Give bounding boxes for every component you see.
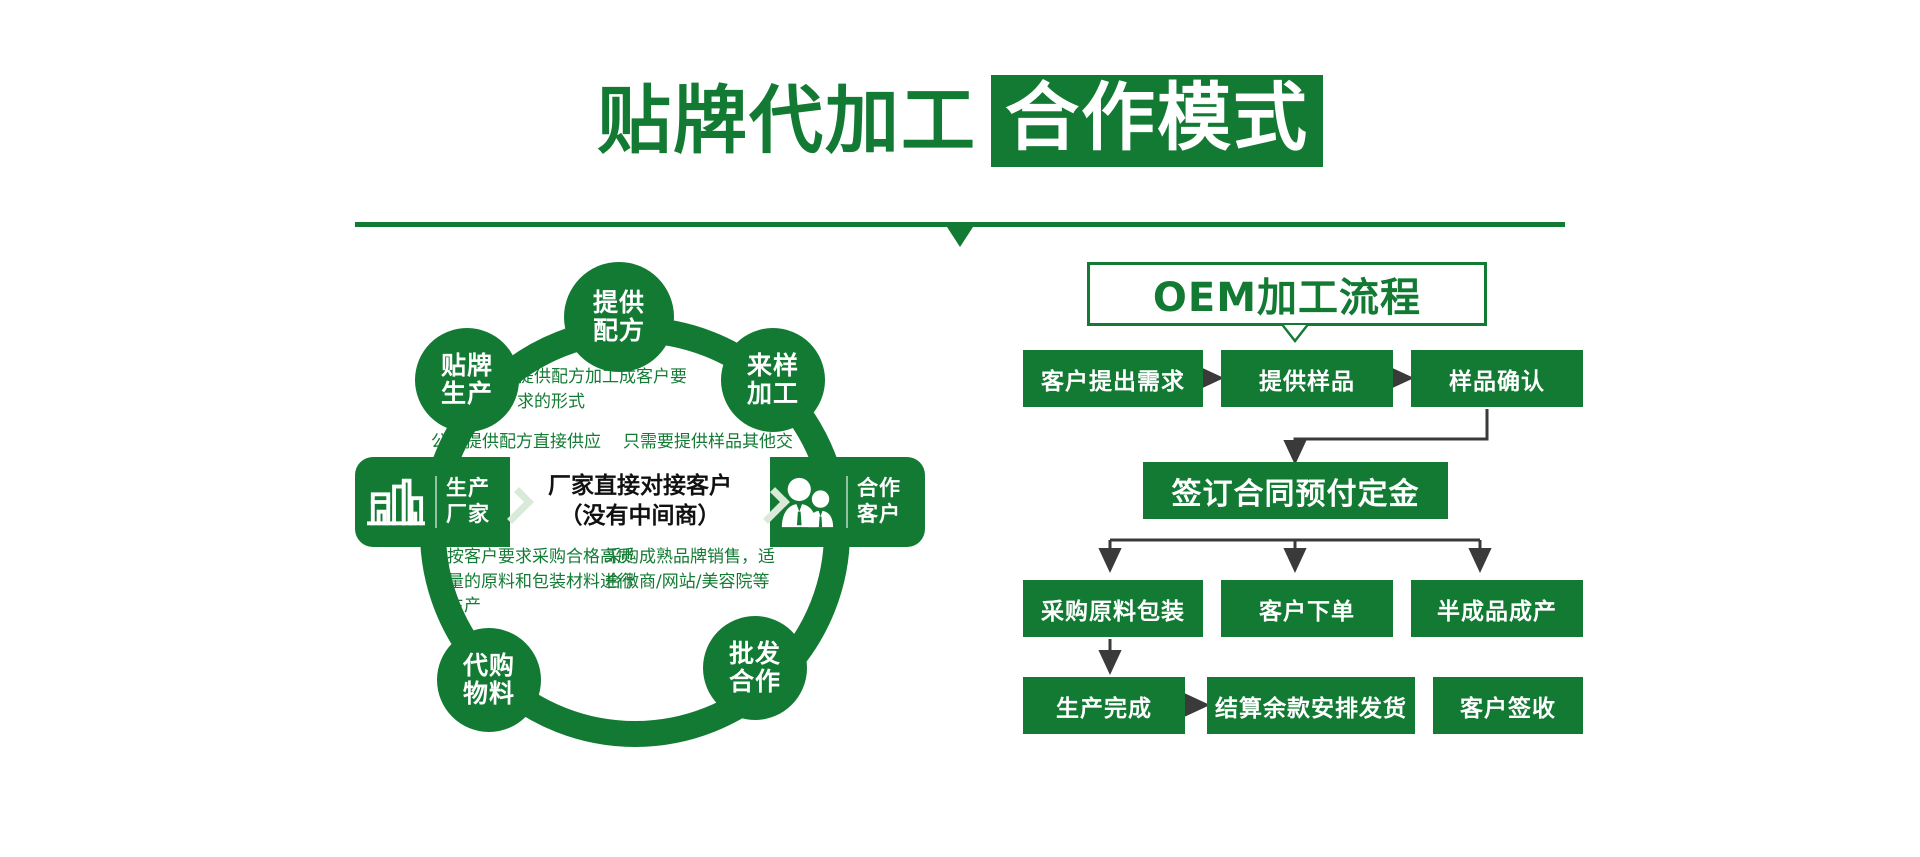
band-center-message: 厂家直接对接客户 （没有中间商）	[510, 457, 770, 547]
caption-wholesale-cooperation: 采购成熟品牌销售，适合微商/网站/美容院等	[605, 545, 780, 594]
flow-box-label: 提供样品	[1259, 362, 1355, 396]
cycle-node-label-line2: 合作	[729, 668, 781, 696]
flow-box-sample-confirm[interactable]: 样品确认	[1411, 350, 1583, 407]
band-center-line2: （没有中间商）	[560, 502, 721, 532]
section-divider	[355, 222, 1565, 248]
title-plain-text: 贴牌代加工	[597, 84, 977, 158]
factory-icon	[365, 473, 427, 531]
flow-box-label: 样品确认	[1449, 362, 1545, 396]
flow-box-customer-receipt[interactable]: 客户签收	[1433, 677, 1583, 734]
cycle-node-wholesale-cooperation[interactable]: 批发 合作	[703, 616, 807, 720]
flow-box-label: 半成品成产	[1437, 592, 1557, 626]
flowchart-heading-text: OEM加工流程	[1153, 265, 1421, 323]
page-title: 贴牌代加工 合作模式	[0, 75, 1920, 167]
cycle-node-label-line1: 批发	[729, 640, 781, 668]
title-highlight-badge: 合作模式	[991, 75, 1323, 167]
caption-supply-formula: 提供配方加工成客户要求的形式	[517, 365, 692, 414]
flow-box-label: 客户下单	[1259, 592, 1355, 626]
cycle-node-oem-production[interactable]: 贴牌 生产	[415, 328, 519, 432]
flow-box-purchase-materials[interactable]: 采购原料包装	[1023, 580, 1203, 637]
caret-down-icon	[947, 227, 973, 247]
flow-box-label: 生产完成	[1056, 689, 1152, 723]
infographic-root: 贴牌代加工 合作模式 提供 配方 贴牌 生产 来样 加工 代购 物料 批发 合作…	[0, 0, 1920, 857]
cycle-node-sample-processing[interactable]: 来样 加工	[721, 328, 825, 432]
caret-down-icon-inner	[1284, 325, 1306, 339]
cycle-node-label-line2: 生产	[441, 380, 493, 408]
band-label-line2: 厂家	[446, 502, 490, 526]
flow-box-production-complete[interactable]: 生产完成	[1023, 677, 1185, 734]
flow-box-customer-order[interactable]: 客户下单	[1221, 580, 1393, 637]
cycle-node-label-line1: 贴牌	[441, 352, 493, 380]
band-manufacturer-label: 生产 厂家	[435, 476, 490, 527]
cycle-node-label-line2: 配方	[593, 317, 645, 345]
band-center-line1: 厂家直接对接客户	[548, 472, 732, 502]
band-label-line1: 生产	[446, 476, 490, 500]
oem-process-flowchart: OEM加工流程	[1015, 262, 1575, 802]
flow-box-label: 结算余款安排发货	[1215, 689, 1407, 723]
cycle-node-material-purchasing[interactable]: 代购 物料	[437, 628, 541, 732]
flow-box-customer-requirement[interactable]: 客户提出需求	[1023, 350, 1203, 407]
band-label-line2: 客户	[857, 502, 901, 526]
band-manufacturer-group[interactable]: 生产 厂家	[355, 457, 510, 547]
flow-box-label: 客户提出需求	[1041, 362, 1185, 396]
band-customer-label: 合作 客户	[846, 476, 901, 527]
flow-box-semi-finished[interactable]: 半成品成产	[1411, 580, 1583, 637]
cycle-node-label-line2: 物料	[463, 680, 515, 708]
cycle-node-label-line1: 来样	[747, 352, 799, 380]
cycle-node-label-line1: 代购	[463, 652, 515, 680]
cycle-node-label-line2: 加工	[747, 380, 799, 408]
band-label-line1: 合作	[857, 476, 901, 500]
flowchart-heading: OEM加工流程	[1087, 262, 1487, 326]
flow-box-provide-sample[interactable]: 提供样品	[1221, 350, 1393, 407]
direct-connection-band: 生产 厂家 厂家直接对接客户 （没有中间商）	[355, 457, 925, 547]
flow-box-label: 客户签收	[1460, 689, 1556, 723]
flow-box-settle-and-ship[interactable]: 结算余款安排发货	[1207, 677, 1415, 734]
cooperation-cycle-diagram: 提供 配方 贴牌 生产 来样 加工 代购 物料 批发 合作 提供配方加工成客户要…	[355, 262, 925, 792]
flow-box-sign-contract-deposit[interactable]: 签订合同预付定金	[1143, 462, 1448, 519]
cycle-node-label-line1: 提供	[593, 289, 645, 317]
flow-box-label: 采购原料包装	[1041, 592, 1185, 626]
band-customer-group[interactable]: 合作 客户	[770, 457, 925, 547]
cycle-node-supply-formula[interactable]: 提供 配方	[564, 262, 674, 372]
flow-box-label: 签订合同预付定金	[1172, 469, 1420, 513]
people-icon	[776, 473, 838, 531]
